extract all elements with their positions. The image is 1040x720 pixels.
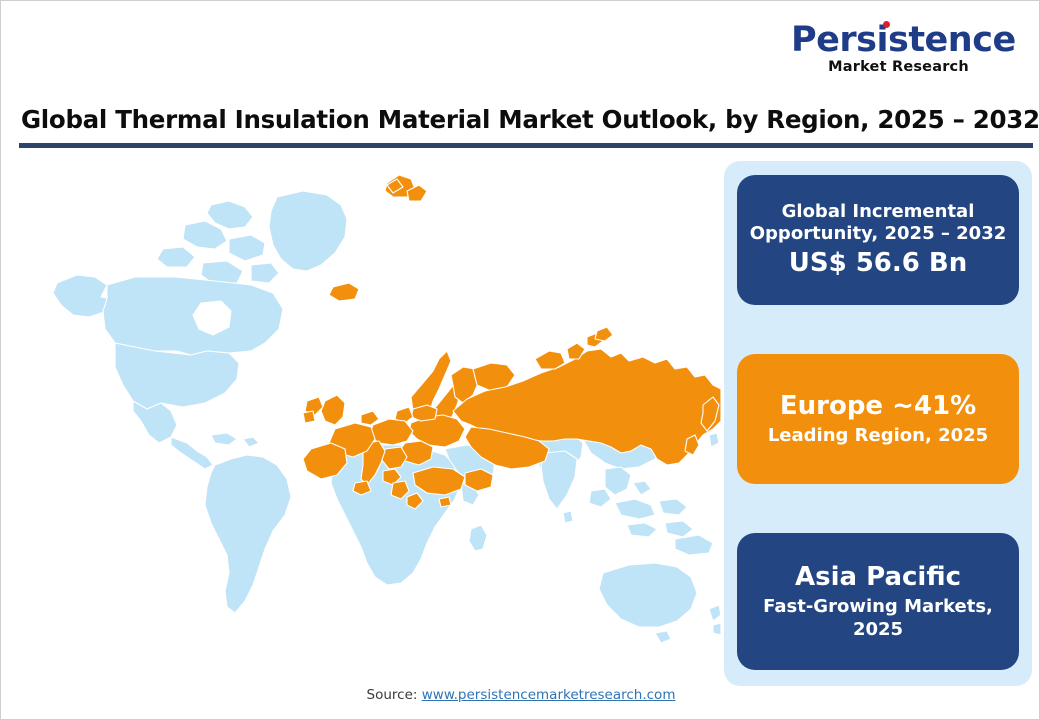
kpi-europe-caption: Leading Region, 2025 [768, 425, 988, 448]
kpi-card-global-incremental-opportunity: Global Incremental Opportunity, 2025 – 2… [737, 175, 1019, 305]
kpi-card-fast-growing-market: Asia Pacific Fast-Growing Markets, 2025 [737, 533, 1019, 670]
logo-dot-icon [883, 21, 890, 28]
world-map [15, 153, 721, 673]
logo-tagline: Market Research [791, 60, 1006, 75]
map-highlighted-regions [303, 175, 721, 509]
kpi-global-line1: Global Incremental [782, 201, 975, 224]
kpi-europe-value: Europe ~41% [780, 391, 976, 422]
kpi-asia-caption: Fast-Growing Markets, 2025 [747, 596, 1009, 641]
source-line: Source: www.persistencemarketresearch.co… [1, 687, 1040, 703]
logo-name: Persistence [791, 20, 1016, 60]
kpi-global-value: US$ 56.6 Bn [789, 248, 968, 279]
company-logo: Persistence Market Research [791, 23, 1006, 85]
source-label: Source: [367, 687, 418, 703]
kpi-card-leading-region: Europe ~41% Leading Region, 2025 [737, 354, 1019, 484]
logo-wordmark: Persistence [791, 23, 1016, 58]
page-title: Global Thermal Insulation Material Marke… [21, 105, 1033, 134]
infographic-page: Persistence Market Research Global Therm… [0, 0, 1040, 720]
kpi-asia-value: Asia Pacific [795, 562, 961, 593]
title-divider [19, 143, 1033, 148]
source-url-link[interactable]: www.persistencemarketresearch.com [422, 687, 676, 703]
kpi-panel: Global Incremental Opportunity, 2025 – 2… [724, 161, 1032, 686]
kpi-global-line2: Opportunity, 2025 – 2032 [750, 223, 1007, 246]
